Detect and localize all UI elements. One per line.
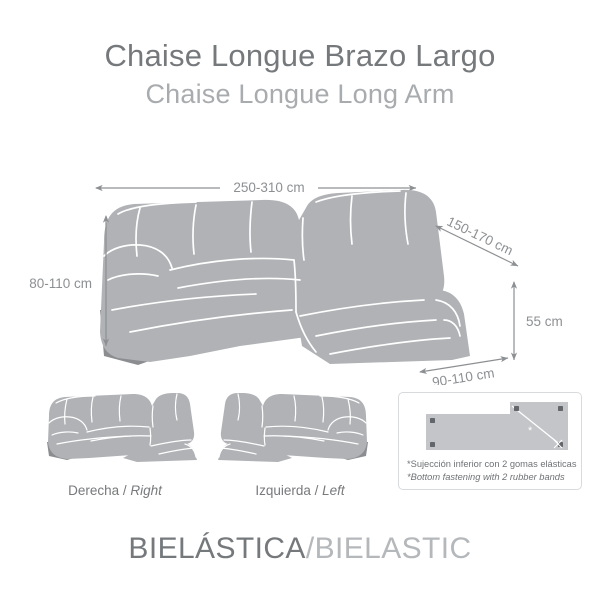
fastening-note-es: *Sujección inferior con 2 gomas elástica… (407, 458, 575, 471)
dimension-depth-right: 150-170 cm (436, 214, 518, 266)
footprint-shape (426, 402, 568, 450)
footer-separator: / (306, 532, 315, 565)
footer-text-en: BIELASTIC (315, 532, 472, 565)
main-sofa-diagram: 250-310 cm (0, 160, 600, 385)
variant-right-caption-en: Right (130, 483, 162, 498)
variant-left-caption-en: Left (322, 483, 345, 498)
fastening-info-box: * *Sujección inferior con 2 gomas elásti… (398, 392, 582, 490)
product-diagram-page: Chaise Longue Brazo Largo Chaise Longue … (0, 0, 600, 600)
dimension-seat-height-right-label: 55 cm (526, 314, 563, 329)
elastic-band-asterisk: * (528, 425, 533, 437)
variant-caption-separator: / (311, 483, 322, 498)
variant-right[interactable]: Derecha / Right (20, 388, 210, 498)
fastening-note-en: *Bottom fastening with 2 rubber bands (407, 471, 575, 484)
variant-left-illustration (212, 388, 388, 464)
title-english: Chaise Longue Long Arm (0, 76, 600, 112)
dimension-height-left: 80-110 cm (29, 216, 106, 346)
dimension-height-left-label: 80-110 cm (29, 276, 92, 291)
sofa-illustration (100, 190, 470, 365)
variant-right-caption-es: Derecha (68, 483, 119, 498)
footer-bielastic: BIELÁSTICA/BIELASTIC (0, 532, 600, 566)
variant-left[interactable]: Izquierda / Left (205, 388, 395, 498)
title-spanish: Chaise Longue Brazo Largo (0, 36, 600, 76)
footer-text-es: BIELÁSTICA (128, 532, 305, 565)
footprint-diagram: * (406, 398, 576, 456)
dimension-seat-height-right: 55 cm (514, 282, 563, 360)
variant-left-caption-es: Izquierda (255, 483, 311, 498)
dimension-chaise-width-bottom: 90-110 cm (420, 358, 508, 385)
variant-right-illustration (27, 388, 203, 464)
variant-caption-separator: / (119, 483, 130, 498)
fastening-notes: *Sujección inferior con 2 gomas elástica… (407, 458, 575, 483)
dimension-width-top-label: 250-310 cm (233, 180, 304, 195)
variant-right-caption: Derecha / Right (20, 483, 210, 498)
variant-left-caption: Izquierda / Left (205, 483, 395, 498)
page-title: Chaise Longue Brazo Largo Chaise Longue … (0, 36, 600, 112)
